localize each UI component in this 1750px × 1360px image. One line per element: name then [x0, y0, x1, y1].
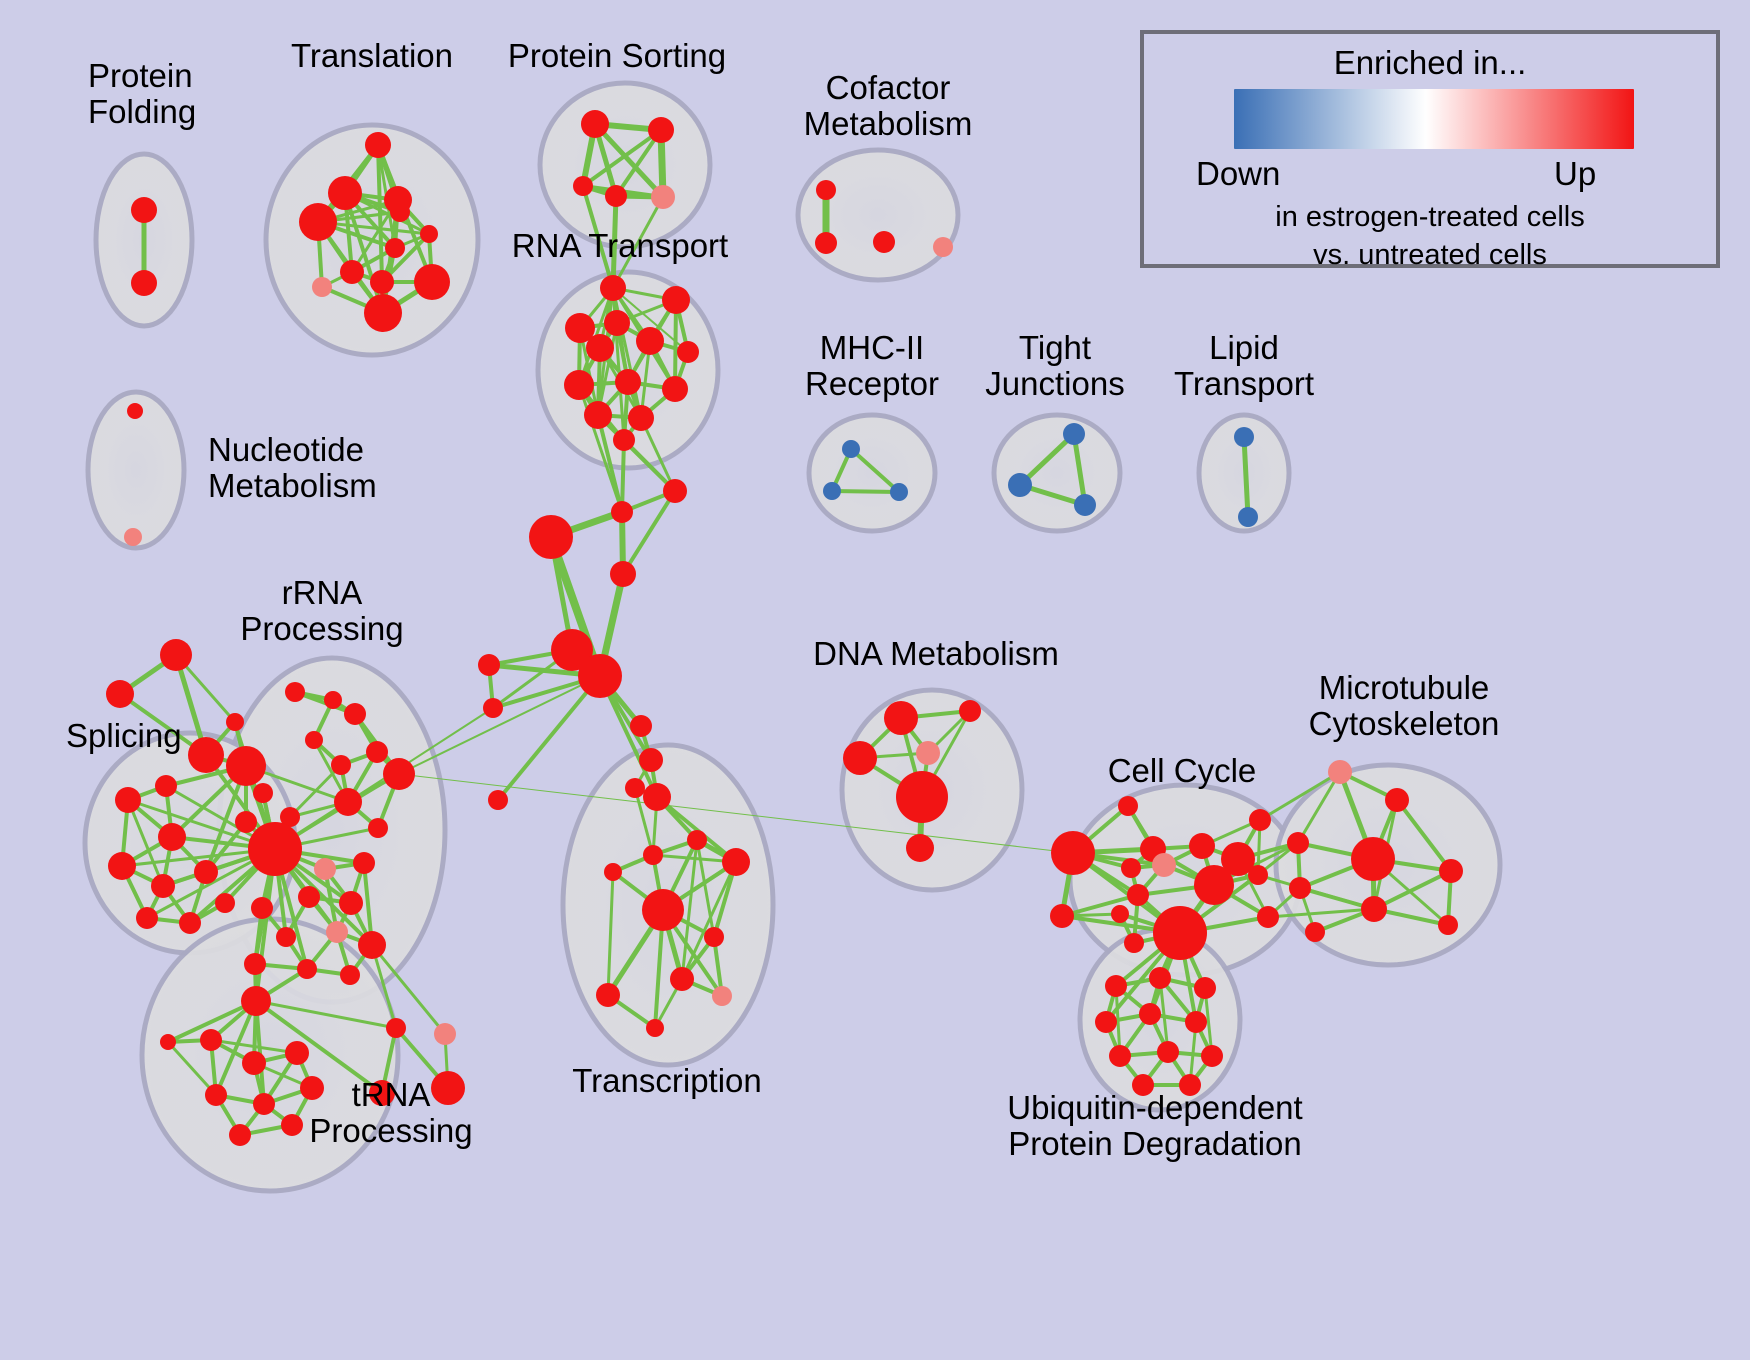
cluster-mhc-ii-receptor[interactable] — [809, 415, 935, 531]
network-node[interactable] — [916, 741, 940, 765]
network-node[interactable] — [639, 748, 663, 772]
cluster-tight-junctions[interactable] — [994, 415, 1120, 531]
network-node[interactable] — [1438, 915, 1458, 935]
network-node[interactable] — [478, 654, 500, 676]
label-translation: Translation — [291, 38, 453, 74]
network-node[interactable] — [1249, 809, 1271, 831]
network-edge — [832, 491, 899, 492]
network-node[interactable] — [364, 294, 402, 332]
network-node[interactable] — [124, 528, 142, 546]
network-node[interactable] — [253, 1093, 275, 1115]
network-node[interactable] — [610, 561, 636, 587]
label-transcription: Transcription — [572, 1063, 762, 1099]
network-node[interactable] — [625, 778, 645, 798]
network-node[interactable] — [564, 370, 594, 400]
network-node[interactable] — [959, 700, 981, 722]
network-node[interactable] — [615, 369, 641, 395]
label-cell-cycle: Cell Cycle — [1108, 753, 1257, 789]
network-node[interactable] — [344, 703, 366, 725]
network-node[interactable] — [285, 1041, 309, 1065]
network-node[interactable] — [1051, 831, 1095, 875]
network-node[interactable] — [651, 185, 675, 209]
network-node[interactable] — [604, 310, 630, 336]
network-node[interactable] — [1105, 975, 1127, 997]
network-node[interactable] — [578, 654, 622, 698]
network-node[interactable] — [312, 277, 332, 297]
network-node[interactable] — [326, 921, 348, 943]
label-mhc-ii-receptor: MHC-II Receptor — [805, 330, 939, 401]
cluster-protein-sorting[interactable] — [540, 83, 710, 247]
network-node[interactable] — [370, 270, 394, 294]
network-node[interactable] — [241, 986, 271, 1016]
network-node[interactable] — [414, 264, 450, 300]
network-node[interactable] — [314, 858, 336, 880]
network-node[interactable] — [1121, 858, 1141, 878]
network-node[interactable] — [1257, 906, 1279, 928]
network-node[interactable] — [1063, 423, 1085, 445]
network-node[interactable] — [194, 860, 218, 884]
network-node[interactable] — [1109, 1045, 1131, 1067]
label-cofactor-metabolism: Cofactor Metabolism — [804, 70, 973, 141]
network-node[interactable] — [244, 953, 266, 975]
cluster-cofactor-metabolism[interactable] — [798, 150, 958, 280]
network-node[interactable] — [722, 848, 750, 876]
network-node[interactable] — [298, 886, 320, 908]
label-lipid-transport: Lipid Transport — [1174, 330, 1314, 401]
network-node[interactable] — [642, 889, 684, 931]
label-rna-transport: RNA Transport — [512, 228, 728, 264]
network-node[interactable] — [299, 203, 337, 241]
network-node[interactable] — [1361, 896, 1387, 922]
network-node[interactable] — [884, 701, 918, 735]
network-node[interactable] — [1289, 877, 1311, 899]
network-node[interactable] — [1194, 865, 1234, 905]
network-edge — [399, 676, 600, 774]
network-node[interactable] — [842, 440, 860, 458]
network-node[interactable] — [188, 737, 224, 773]
network-node[interactable] — [584, 401, 612, 429]
network-node[interactable] — [704, 927, 724, 947]
legend-color-bar — [1234, 89, 1634, 149]
network-node[interactable] — [613, 429, 635, 451]
network-node[interactable] — [368, 818, 388, 838]
network-node[interactable] — [1153, 906, 1207, 960]
network-node[interactable] — [158, 823, 186, 851]
network-node[interactable] — [1305, 922, 1325, 942]
network-node[interactable] — [890, 483, 908, 501]
network-node[interactable] — [1185, 1011, 1207, 1033]
network-node[interactable] — [106, 680, 134, 708]
label-microtubule-cytoskeleton: Microtubule Cytoskeleton — [1309, 670, 1500, 741]
network-node[interactable] — [670, 967, 694, 991]
network-node[interactable] — [815, 232, 837, 254]
network-node[interactable] — [600, 275, 626, 301]
network-node[interactable] — [1385, 788, 1409, 812]
network-node[interactable] — [160, 1034, 176, 1050]
network-node[interactable] — [339, 891, 363, 915]
network-node[interactable] — [235, 811, 257, 833]
network-node[interactable] — [386, 1018, 406, 1038]
network-node[interactable] — [390, 202, 410, 222]
network-node[interactable] — [1124, 933, 1144, 953]
label-ubiquitin-degradation: Ubiquitin-dependent Protein Degradation — [1007, 1090, 1302, 1161]
legend-subtitle-2: vs. untreated cells — [1144, 239, 1716, 272]
legend-up-label: Up — [1554, 155, 1596, 193]
network-node[interactable] — [1149, 967, 1171, 989]
network-node[interactable] — [205, 1084, 227, 1106]
network-node[interactable] — [648, 117, 674, 143]
network-node[interactable] — [1248, 865, 1268, 885]
network-node[interactable] — [712, 986, 732, 1006]
network-node[interactable] — [896, 771, 948, 823]
network-node[interactable] — [420, 225, 438, 243]
network-node[interactable] — [1234, 427, 1254, 447]
network-node[interactable] — [353, 852, 375, 874]
network-node[interactable] — [630, 715, 652, 737]
network-node[interactable] — [586, 334, 614, 362]
network-node[interactable] — [687, 830, 707, 850]
network-node[interactable] — [1194, 977, 1216, 999]
network-node[interactable] — [434, 1023, 456, 1045]
network-node[interactable] — [628, 405, 654, 431]
network-node[interactable] — [1328, 760, 1352, 784]
network-node[interactable] — [1095, 1011, 1117, 1033]
network-node[interactable] — [488, 790, 508, 810]
network-node[interactable] — [328, 176, 362, 210]
network-node[interactable] — [662, 376, 688, 402]
network-node[interactable] — [108, 852, 136, 880]
network-node[interactable] — [1118, 796, 1138, 816]
network-node[interactable] — [253, 783, 273, 803]
network-node[interactable] — [1127, 884, 1149, 906]
network-node[interactable] — [215, 893, 235, 913]
network-node[interactable] — [136, 907, 158, 929]
network-node[interactable] — [1351, 837, 1395, 881]
label-tight-junctions: Tight Junctions — [985, 330, 1124, 401]
network-node[interactable] — [229, 1124, 251, 1146]
network-node[interactable] — [643, 783, 671, 811]
network-node[interactable] — [366, 741, 388, 763]
network-node[interactable] — [131, 197, 157, 223]
network-node[interactable] — [358, 931, 386, 959]
network-node[interactable] — [611, 501, 633, 523]
label-splicing: Splicing — [66, 718, 182, 754]
network-node[interactable] — [276, 927, 296, 947]
network-node[interactable] — [340, 260, 364, 284]
network-node[interactable] — [115, 787, 141, 813]
network-node[interactable] — [226, 713, 244, 731]
network-node[interactable] — [643, 845, 663, 865]
network-node[interactable] — [1287, 832, 1309, 854]
network-node[interactable] — [1189, 833, 1215, 859]
network-node[interactable] — [933, 237, 953, 257]
network-node[interactable] — [1238, 507, 1258, 527]
network-node[interactable] — [160, 639, 192, 671]
label-trna-processing: tRNA Processing — [309, 1077, 472, 1148]
network-node[interactable] — [334, 788, 362, 816]
network-node[interactable] — [297, 959, 317, 979]
network-node[interactable] — [604, 863, 622, 881]
network-node[interactable] — [248, 822, 302, 876]
network-node[interactable] — [242, 1051, 266, 1075]
network-node[interactable] — [573, 176, 593, 196]
legend-box: Enriched in... Down Up in estrogen-treat… — [1140, 30, 1720, 268]
network-node[interactable] — [131, 270, 157, 296]
network-node[interactable] — [1008, 473, 1032, 497]
label-protein-folding: Protein Folding — [88, 58, 196, 129]
network-node[interactable] — [646, 1019, 664, 1037]
network-diagram-canvas: Protein FoldingTranslationProtein Sortin… — [0, 0, 1750, 1360]
network-node[interactable] — [1157, 1041, 1179, 1063]
network-node[interactable] — [331, 755, 351, 775]
label-dna-metabolism: DNA Metabolism — [813, 636, 1059, 672]
network-node[interactable] — [151, 874, 175, 898]
network-node[interactable] — [605, 185, 627, 207]
network-node[interactable] — [636, 327, 664, 355]
network-node[interactable] — [1074, 494, 1096, 516]
network-node[interactable] — [1139, 1003, 1161, 1025]
label-nucleotide-metabolism: Nucleotide Metabolism — [208, 432, 377, 503]
network-node[interactable] — [483, 698, 503, 718]
network-node[interactable] — [596, 983, 620, 1007]
network-node[interactable] — [1050, 904, 1074, 928]
legend-title: Enriched in... — [1144, 44, 1716, 82]
network-node[interactable] — [1201, 1045, 1223, 1067]
network-node[interactable] — [581, 110, 609, 138]
network-node[interactable] — [324, 691, 342, 709]
label-protein-sorting: Protein Sorting — [508, 38, 726, 74]
legend-subtitle-1: in estrogen-treated cells — [1144, 201, 1716, 234]
network-node[interactable] — [816, 180, 836, 200]
network-node[interactable] — [285, 682, 305, 702]
network-node[interactable] — [385, 238, 405, 258]
network-node[interactable] — [823, 482, 841, 500]
network-node[interactable] — [1152, 853, 1176, 877]
network-node[interactable] — [155, 775, 177, 797]
label-rrna-processing: rRNA Processing — [240, 575, 403, 646]
network-node[interactable] — [251, 897, 273, 919]
network-node[interactable] — [200, 1029, 222, 1051]
network-node[interactable] — [281, 1114, 303, 1136]
network-node[interactable] — [383, 758, 415, 790]
network-node[interactable] — [127, 403, 143, 419]
legend-down-label: Down — [1196, 155, 1280, 193]
network-node[interactable] — [340, 965, 360, 985]
network-node[interactable] — [179, 912, 201, 934]
network-node[interactable] — [662, 286, 690, 314]
network-node[interactable] — [873, 231, 895, 253]
network-node[interactable] — [529, 515, 573, 559]
network-node[interactable] — [1439, 859, 1463, 883]
network-node[interactable] — [365, 132, 391, 158]
network-node[interactable] — [226, 746, 266, 786]
network-node[interactable] — [906, 834, 934, 862]
network-node[interactable] — [843, 741, 877, 775]
network-node[interactable] — [677, 341, 699, 363]
network-node[interactable] — [663, 479, 687, 503]
network-node[interactable] — [305, 731, 323, 749]
network-node[interactable] — [1111, 905, 1129, 923]
